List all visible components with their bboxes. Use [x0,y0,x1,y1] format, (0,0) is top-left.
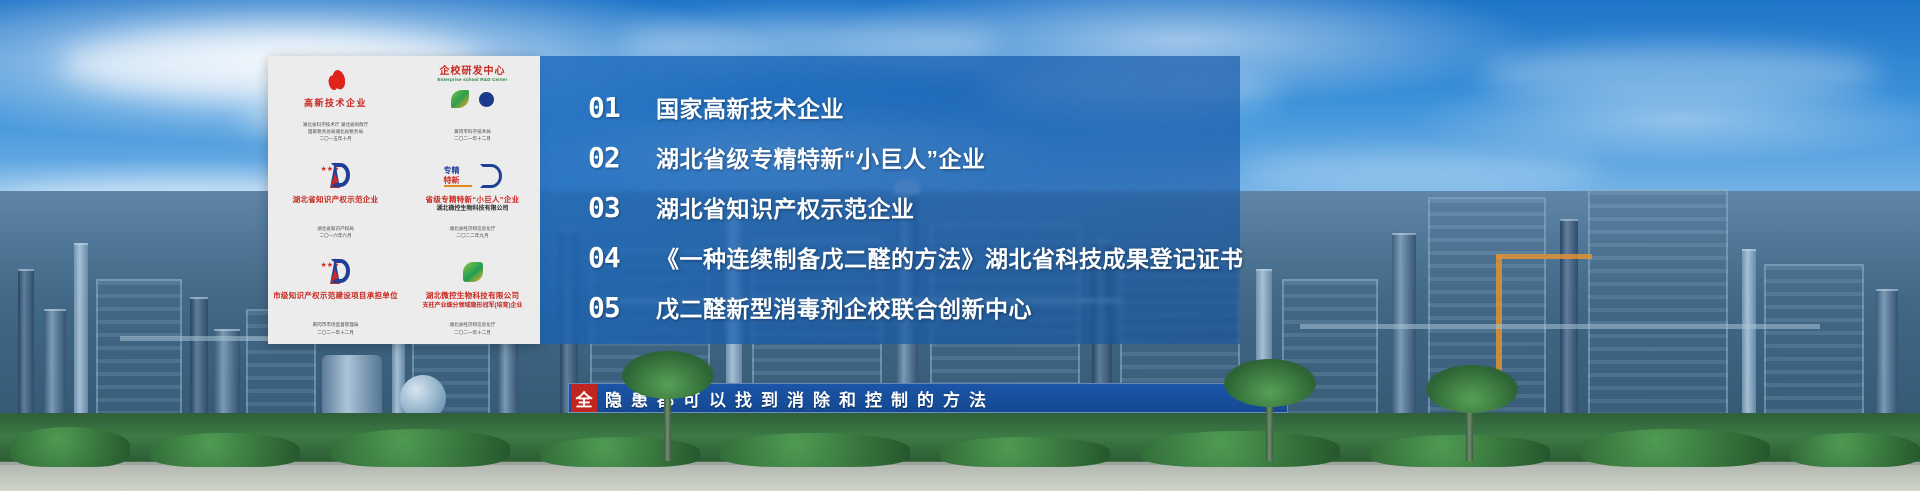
ip-sail-icon: ★★★ [321,159,351,193]
certificate-meta: 湖北省经济和信息化厅 二〇二一年十二月 [450,321,496,340]
certificate-meta: 黄冈市市场监督管理局 二〇二一年十二月 [313,321,359,340]
shrub [540,437,700,467]
credential-number: 05 [588,291,656,324]
certificate-meta: 湖北省科学技术厅 湖北省财政厅 国家税务总局湖北省税务局 二〇一五年十月 [303,121,369,147]
shrub [940,437,1110,467]
shrub [330,429,510,467]
hero-banner: 全 隐患都可以找到消除和控制的方法 高新技术企业 湖北省科学技术厅 湖北省财政厅… [0,0,1920,491]
plant-frame [1764,264,1864,429]
cloud-shape [1480,46,1880,100]
credential-number: 04 [588,241,656,274]
certificate-meta: 湖北省知识产权局 二〇一六年六月 [317,225,354,244]
certificate-grid: 高新技术企业 湖北省科学技术厅 湖北省财政厅 国家税务总局湖北省税务局 二〇一五… [268,56,540,344]
credentials-list: 01 国家高新技术企业 02 湖北省级专精特新“小巨人”企业 03 湖北省知识产… [540,56,1240,344]
crane-jib [1496,254,1592,259]
flame-icon [323,62,349,96]
shrub [1580,429,1770,467]
credential-item[interactable]: 02 湖北省级专精特新“小巨人”企业 [588,132,1240,182]
credential-label: 湖北省知识产权示范企业 [656,190,915,224]
credential-number: 02 [588,141,656,174]
palm-crown [1426,365,1518,413]
certificate-title: 市级知识产权示范建设项目承担单位 [273,291,398,300]
shrub [10,427,130,467]
certificate-card-high-tech-enterprise[interactable]: 高新技术企业 湖北省科学技术厅 湖北省财政厅 国家税务总局湖北省税务局 二〇一五… [268,56,403,151]
plant-tower [44,309,66,429]
plant-tower [1876,289,1898,429]
certificate-meta: 湖北省经济和信息化厅 二〇二二年九月 [450,225,496,244]
certificate-title: 湖北省知识产权示范企业 [293,195,379,204]
certificate-meta: 黄冈市科学技术局 二〇二一年十二月 [454,128,491,147]
plant-tower [1742,249,1756,429]
plant-tower [18,269,34,429]
shrub [1790,433,1920,467]
credential-label: 国家高新技术企业 [656,90,844,124]
ip-sail-icon: ★★★ [321,255,351,289]
credential-label: 《一种连续制备戊二醛的方法》湖北省科技成果登记证书 [656,240,1244,274]
credential-number: 03 [588,191,656,224]
certificate-title: 湖北微控生物科技有限公司 [426,291,520,300]
plant-frame [1588,189,1728,429]
plant-tower [1392,233,1416,429]
leaf-and-seal-icon [451,82,494,116]
plant-pipe [1300,324,1820,329]
plant-sign-badge: 全 [571,384,597,412]
credential-item[interactable]: 05 戊二醛新型消毒剂企校联合创新中心 [588,282,1240,332]
credential-item[interactable]: 04 《一种连续制备戊二醛的方法》湖北省科技成果登记证书 [588,232,1240,282]
certificate-title: 省级专精特新“小巨人”企业 [426,195,520,204]
certificate-subtitle: 湖北微控生物科技有限公司 [436,205,508,214]
certificate-card-hubei-ip-model-enterprise[interactable]: ★★★ 湖北省知识产权示范企业 湖北省知识产权局 二〇一六年六月 [268,153,403,248]
cloud-shape [1240,150,1600,194]
credential-item[interactable]: 01 国家高新技术企业 [588,82,1240,132]
road-strip [0,465,1920,491]
plant-tower [74,243,88,429]
certificate-title: 高新技术企业 [304,98,367,109]
shrub [1140,431,1340,467]
palm-crown [1224,359,1316,407]
shrub [1370,435,1550,467]
shrub [720,433,910,467]
certificate-subtitle: 支柱产业细分领域隐形冠军(培育)企业 [423,302,523,311]
plant-frame [96,279,182,429]
specialized-new-icon: 专精特新 [444,159,502,193]
credential-item[interactable]: 03 湖北省知识产权示范企业 [588,182,1240,232]
certificate-card-enterprise-school-rd-center[interactable]: 企校研发中心 Enterprise school R&D Center 黄冈市科… [405,56,540,151]
credential-label: 湖北省级专精特新“小巨人”企业 [656,140,986,174]
credentials-info-panel: 01 国家高新技术企业 02 湖北省级专精特新“小巨人”企业 03 湖北省知识产… [540,56,1240,344]
shrub [150,433,300,467]
certificate-title: 企校研发中心 [440,62,506,77]
green-mark-icon [463,255,483,289]
certificate-card-ip-model-construction-unit[interactable]: ★★★ 市级知识产权示范建设项目承担单位 黄冈市市场监督管理局 二〇二一年十二月 [268,249,403,344]
credential-number: 01 [588,91,656,124]
certificate-card-specialized-little-giant[interactable]: 专精特新 省级专精特新“小巨人”企业 湖北微控生物科技有限公司 湖北省经济和信息… [405,153,540,248]
credential-label: 戊二醛新型消毒剂企校联合创新中心 [656,290,1032,324]
certificate-card-pillar-industry-hidden-champion[interactable]: 湖北微控生物科技有限公司 支柱产业细分领域隐形冠军(培育)企业 湖北省经济和信息… [405,249,540,344]
palm-crown [622,351,714,399]
plant-frame [1282,279,1378,429]
plant-tower [190,297,208,429]
